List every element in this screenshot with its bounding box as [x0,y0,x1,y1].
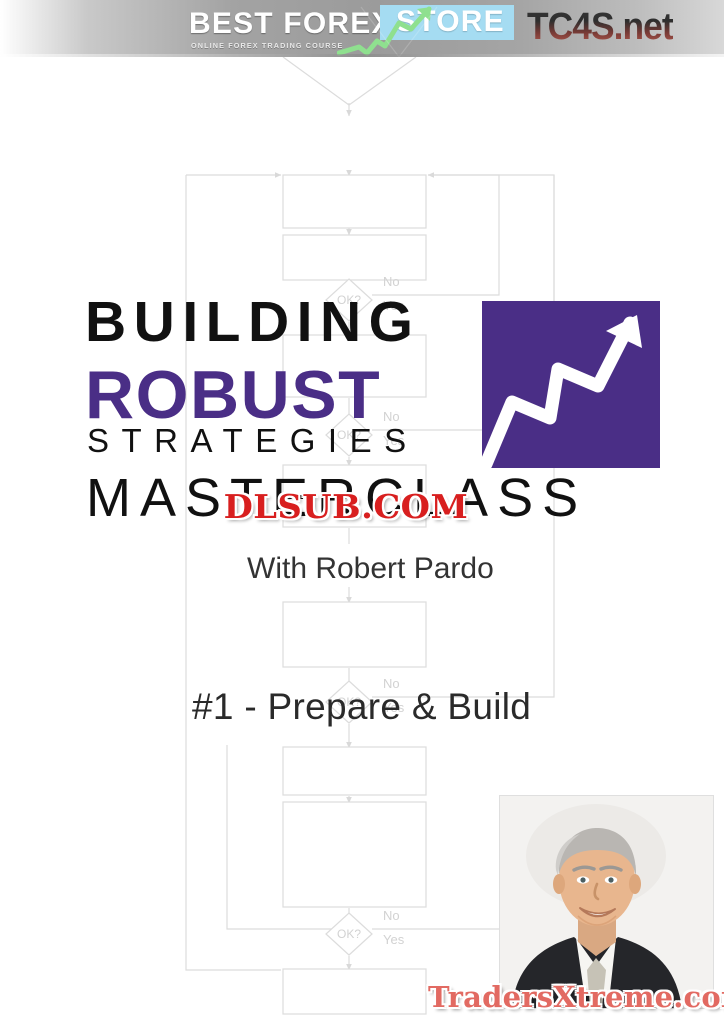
presenter-photo [500,796,713,1008]
flow-node [283,802,426,907]
episode-title: #1 - Prepare & Build [192,687,531,727]
logo-tagline: ONLINE FOREX TRADING COURSE [191,41,343,50]
flow-branch-yes: Yes [383,932,405,947]
brand-mark [482,301,660,468]
flow-node [283,175,426,228]
site-header-banner: BEST FOREX STORE ONLINE FOREX TRADING CO… [0,0,724,57]
logo-word-best: BEST [189,7,274,40]
flow-decision-label: OK? [337,927,361,941]
best-forex-store-logo[interactable]: BEST FOREX STORE ONLINE FOREX TRADING CO… [189,5,519,53]
flow-node [283,235,426,280]
flow-branch-no: No [383,908,400,923]
title-line-strategies: STRATEGIES [87,424,419,457]
flow-branch-no: No [383,274,400,289]
presenter-name: With Robert Pardo [247,553,494,585]
poster-page: BEST FOREX STORE ONLINE FOREX TRADING CO… [0,0,724,1024]
flow-node [283,969,426,1014]
robert-pardo-headshot [500,796,713,1008]
watermark-dlsub: DLSUB.COM [224,489,469,525]
watermark-traders: TradersXtreme.com [428,981,724,1013]
site-brand-tc4s[interactable]: TC4S.net [527,2,673,52]
title-line-building: BUILDING [85,294,420,351]
flow-node [283,747,426,795]
flow-node [283,602,426,667]
green-uptrend-arrow-icon [337,5,455,57]
title-line-robust: ROBUST [85,361,381,429]
rising-zigzag-arrow-icon [482,301,660,468]
